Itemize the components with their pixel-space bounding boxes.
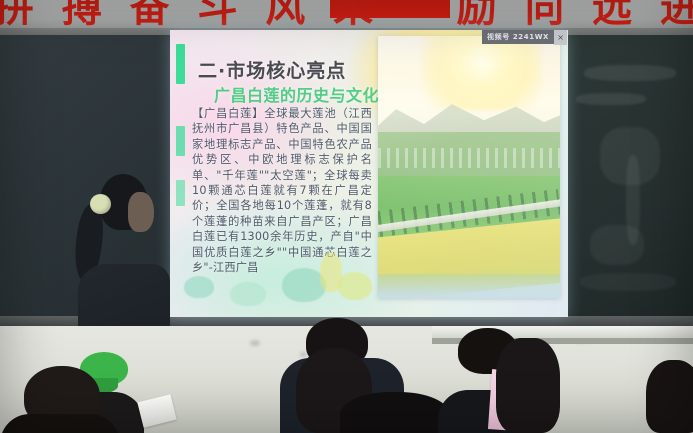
student-hair-overlay: [496, 338, 560, 433]
banner-char: 斗: [197, 0, 237, 28]
student-front-left: [10, 366, 110, 433]
banner-char: 风: [265, 0, 305, 28]
blackboard-right-panel: [566, 35, 693, 323]
accent-bar-mid: [176, 126, 185, 156]
photo-watermark: 视频号 2241WX ×: [482, 30, 567, 45]
slide-photo: [378, 36, 560, 298]
accent-bar-low: [176, 180, 185, 206]
banner-char: 搏: [62, 0, 102, 28]
watermark-label: 视频号 2241WX: [482, 30, 554, 44]
slide-title: 二·市场核心亮点: [198, 56, 346, 83]
classroom-scene: 拼 搏 奋 斗 风 采 励 向 远 进 二·市场核心: [0, 0, 693, 433]
student-far-right: [646, 360, 693, 433]
accent-bar-top: [176, 44, 185, 84]
lotus-petal: [230, 282, 266, 306]
student-head: [340, 392, 450, 433]
slide-subtitle: 广昌白莲的历史与文化: [214, 82, 379, 106]
projected-slide: 二·市场核心亮点 广昌白莲的历史与文化 【广昌白莲】全球最大莲池（江西抚州市广昌…: [170, 30, 568, 317]
teacher-face: [128, 192, 154, 232]
banner-char: 向: [524, 0, 564, 28]
close-icon[interactable]: ×: [554, 30, 567, 45]
student-shoulders: [0, 414, 120, 433]
lotus-flower: [338, 272, 372, 300]
teacher-scrunchie: [90, 194, 111, 214]
banner-char: 励: [457, 0, 497, 28]
student-foreground: [340, 392, 450, 433]
banner-char: 拼: [0, 0, 34, 28]
banner-characters: 拼 搏 奋 斗 风 采 励 向 远 进: [0, 0, 693, 28]
banner-char: 进: [660, 0, 693, 28]
slide-body-text: 【广昌白莲】全球最大莲池（江西抚州市广昌县）特色产品、中国国家地理标志产品、中国…: [192, 106, 372, 275]
banner-char: 远: [592, 0, 632, 28]
student-right-paper: [452, 328, 560, 433]
banner-char: 采: [333, 0, 373, 28]
photo-projection-wash: [378, 36, 560, 298]
banner-char: 奋: [130, 0, 170, 28]
lotus-petal: [184, 276, 214, 298]
student-head: [646, 360, 693, 433]
